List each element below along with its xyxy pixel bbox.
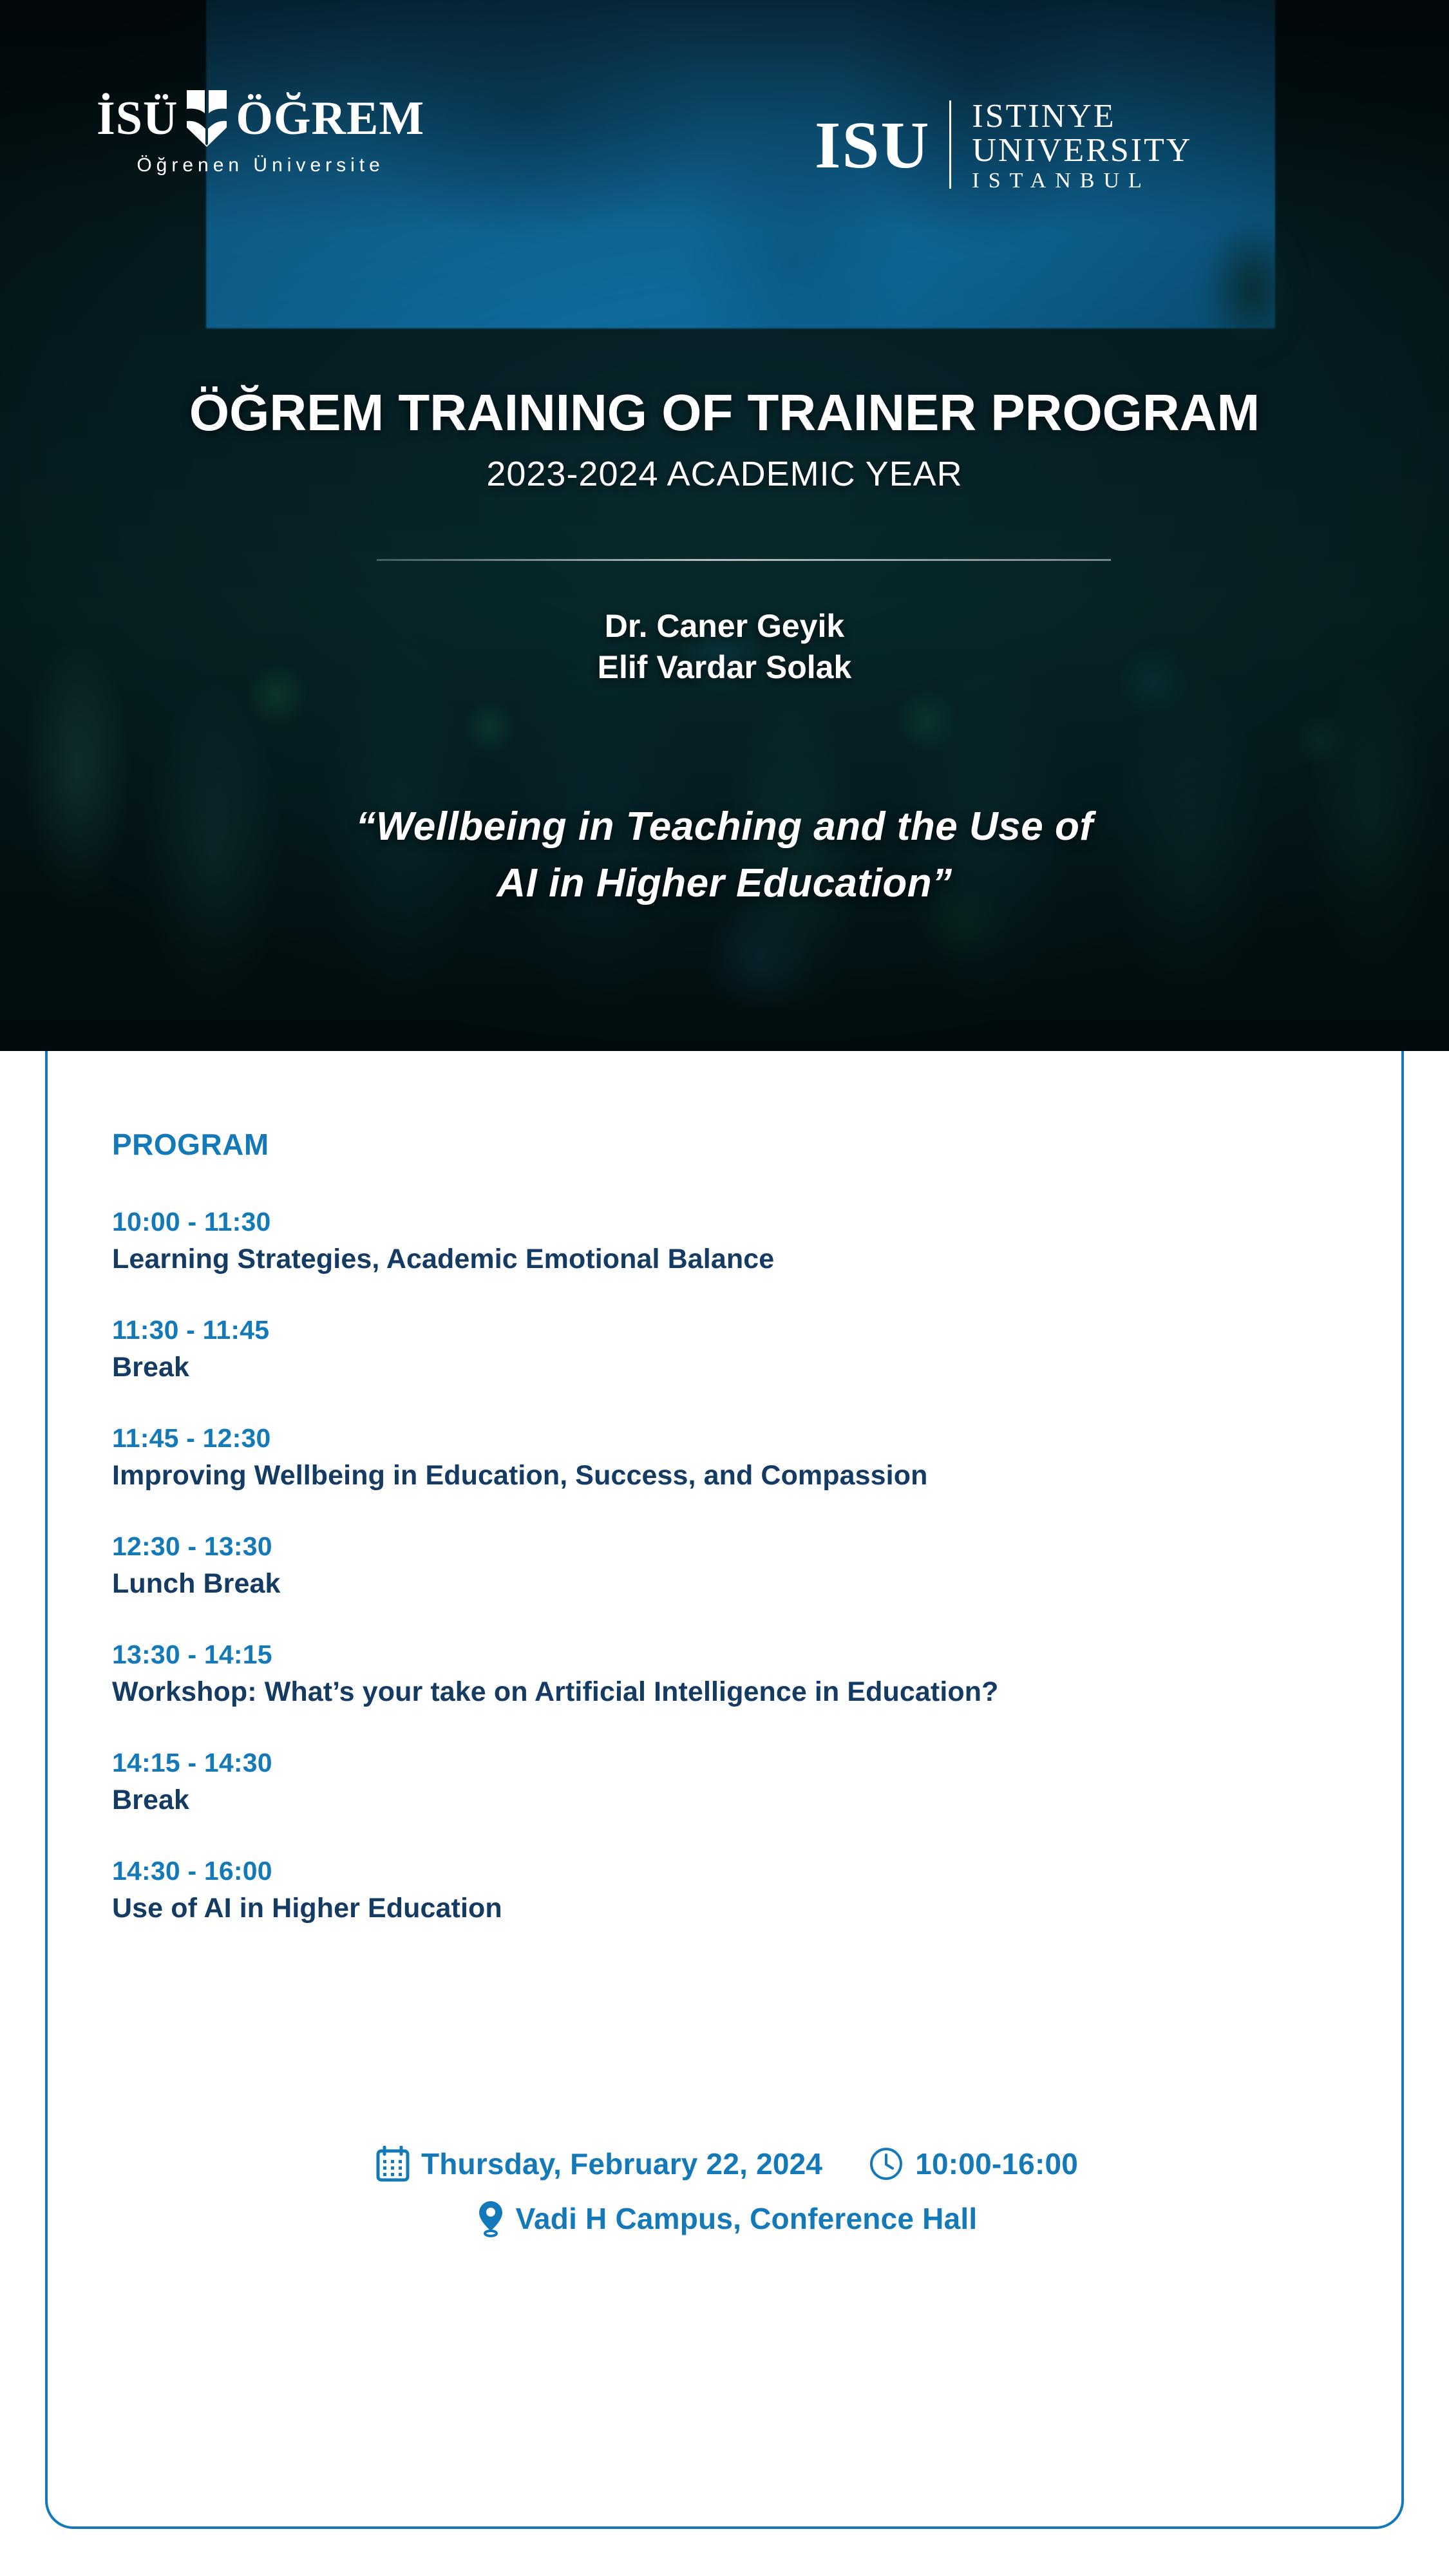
event-time-text: 10:00-16:00 [915,2146,1078,2181]
event-location-chip: Vadi H Campus, Conference Hall [477,2200,978,2237]
open-book-icon [184,88,229,147]
logo-row: İSÜ ÖĞREM Öğrenen Üniversite ISU [0,84,1449,213]
quote-line-1: “Wellbeing in Teaching and the Use of [0,799,1449,855]
quote-line-2: AI in Higher Education” [0,855,1449,912]
session-time: 11:30 - 11:45 [112,1315,1336,1345]
speaker-name: Elif Vardar Solak [0,647,1449,688]
session-time: 14:30 - 16:00 [112,1856,1336,1886]
page-title: ÖĞREM TRAINING OF TRAINER PROGRAM [0,383,1449,442]
session-title: Workshop: What’s your take on Artificial… [112,1676,1336,1708]
ogrem-logo-isu-text: İSÜ [97,95,178,142]
hero-section: İSÜ ÖĞREM Öğrenen Üniversite ISU [0,0,1449,1051]
isu-wordmark: ISU [815,99,949,193]
list-item: 12:30 - 13:30 Lunch Break [112,1531,1336,1600]
list-item: 10:00 - 11:30 Learning Strategies, Acade… [112,1207,1336,1275]
ogrem-logo: İSÜ ÖĞREM Öğrenen Üniversite [97,90,424,176]
session-theme-quote: “Wellbeing in Teaching and the Use of AI… [0,799,1449,912]
session-title: Improving Wellbeing in Education, Succes… [112,1460,1336,1492]
session-title: Break [112,1352,1336,1383]
event-date-chip: Thursday, February 22, 2024 [376,2146,822,2182]
session-title: Learning Strategies, Academic Emotional … [112,1244,1336,1275]
session-time: 14:15 - 14:30 [112,1748,1336,1778]
program-schedule-list: 10:00 - 11:30 Learning Strategies, Acade… [112,1207,1336,1924]
list-item: 11:45 - 12:30 Improving Wellbeing in Edu… [112,1423,1336,1492]
event-date-text: Thursday, February 22, 2024 [421,2146,822,2181]
event-meta-row-primary: Thursday, February 22, 2024 10:00-16:00 [48,2146,1406,2182]
list-item: 14:15 - 14:30 Break [112,1748,1336,1816]
event-location-text: Vadi H Campus, Conference Hall [516,2201,978,2236]
isu-name-line-3: ISTANBUL [972,170,1192,193]
program-heading: PROGRAM [112,1127,269,1162]
event-meta-row-location: Vadi H Campus, Conference Hall [48,2200,1406,2237]
istinye-university-logo: ISU ISTINYE UNIVERSITY ISTANBUL [815,99,1192,193]
session-time: 10:00 - 11:30 [112,1207,1336,1237]
academic-year-subtitle: 2023-2024 ACADEMIC YEAR [0,454,1449,494]
speaker-name: Dr. Caner Geyik [0,605,1449,647]
hero-divider-line [377,559,1111,561]
map-pin-icon [477,2200,504,2237]
session-time: 12:30 - 13:30 [112,1531,1336,1562]
ogrem-logo-ogrem-text: ÖĞREM [236,95,424,142]
session-title: Break [112,1785,1336,1816]
clock-icon [869,2146,904,2181]
session-time: 11:45 - 12:30 [112,1423,1336,1454]
list-item: 14:30 - 16:00 Use of AI in Higher Educat… [112,1856,1336,1924]
isu-name-line-2: UNIVERSITY [972,133,1192,167]
speaker-list: Dr. Caner Geyik Elif Vardar Solak [0,605,1449,688]
event-time-chip: 10:00-16:00 [869,2146,1078,2181]
event-meta: Thursday, February 22, 2024 10:00-16:00 [48,2146,1406,2255]
ogrem-logo-tagline: Öğrenen Üniversite [97,155,424,176]
session-title: Use of AI in Higher Education [112,1893,1336,1924]
list-item: 13:30 - 14:15 Workshop: What’s your take… [112,1640,1336,1708]
calendar-icon [376,2146,410,2182]
isu-name-line-1: ISTINYE [972,99,1192,133]
session-title: Lunch Break [112,1568,1336,1600]
program-card: PROGRAM 10:00 - 11:30 Learning Strategie… [45,1051,1404,2529]
session-time: 13:30 - 14:15 [112,1640,1336,1670]
event-poster: İSÜ ÖĞREM Öğrenen Üniversite ISU [0,0,1449,2576]
list-item: 11:30 - 11:45 Break [112,1315,1336,1383]
